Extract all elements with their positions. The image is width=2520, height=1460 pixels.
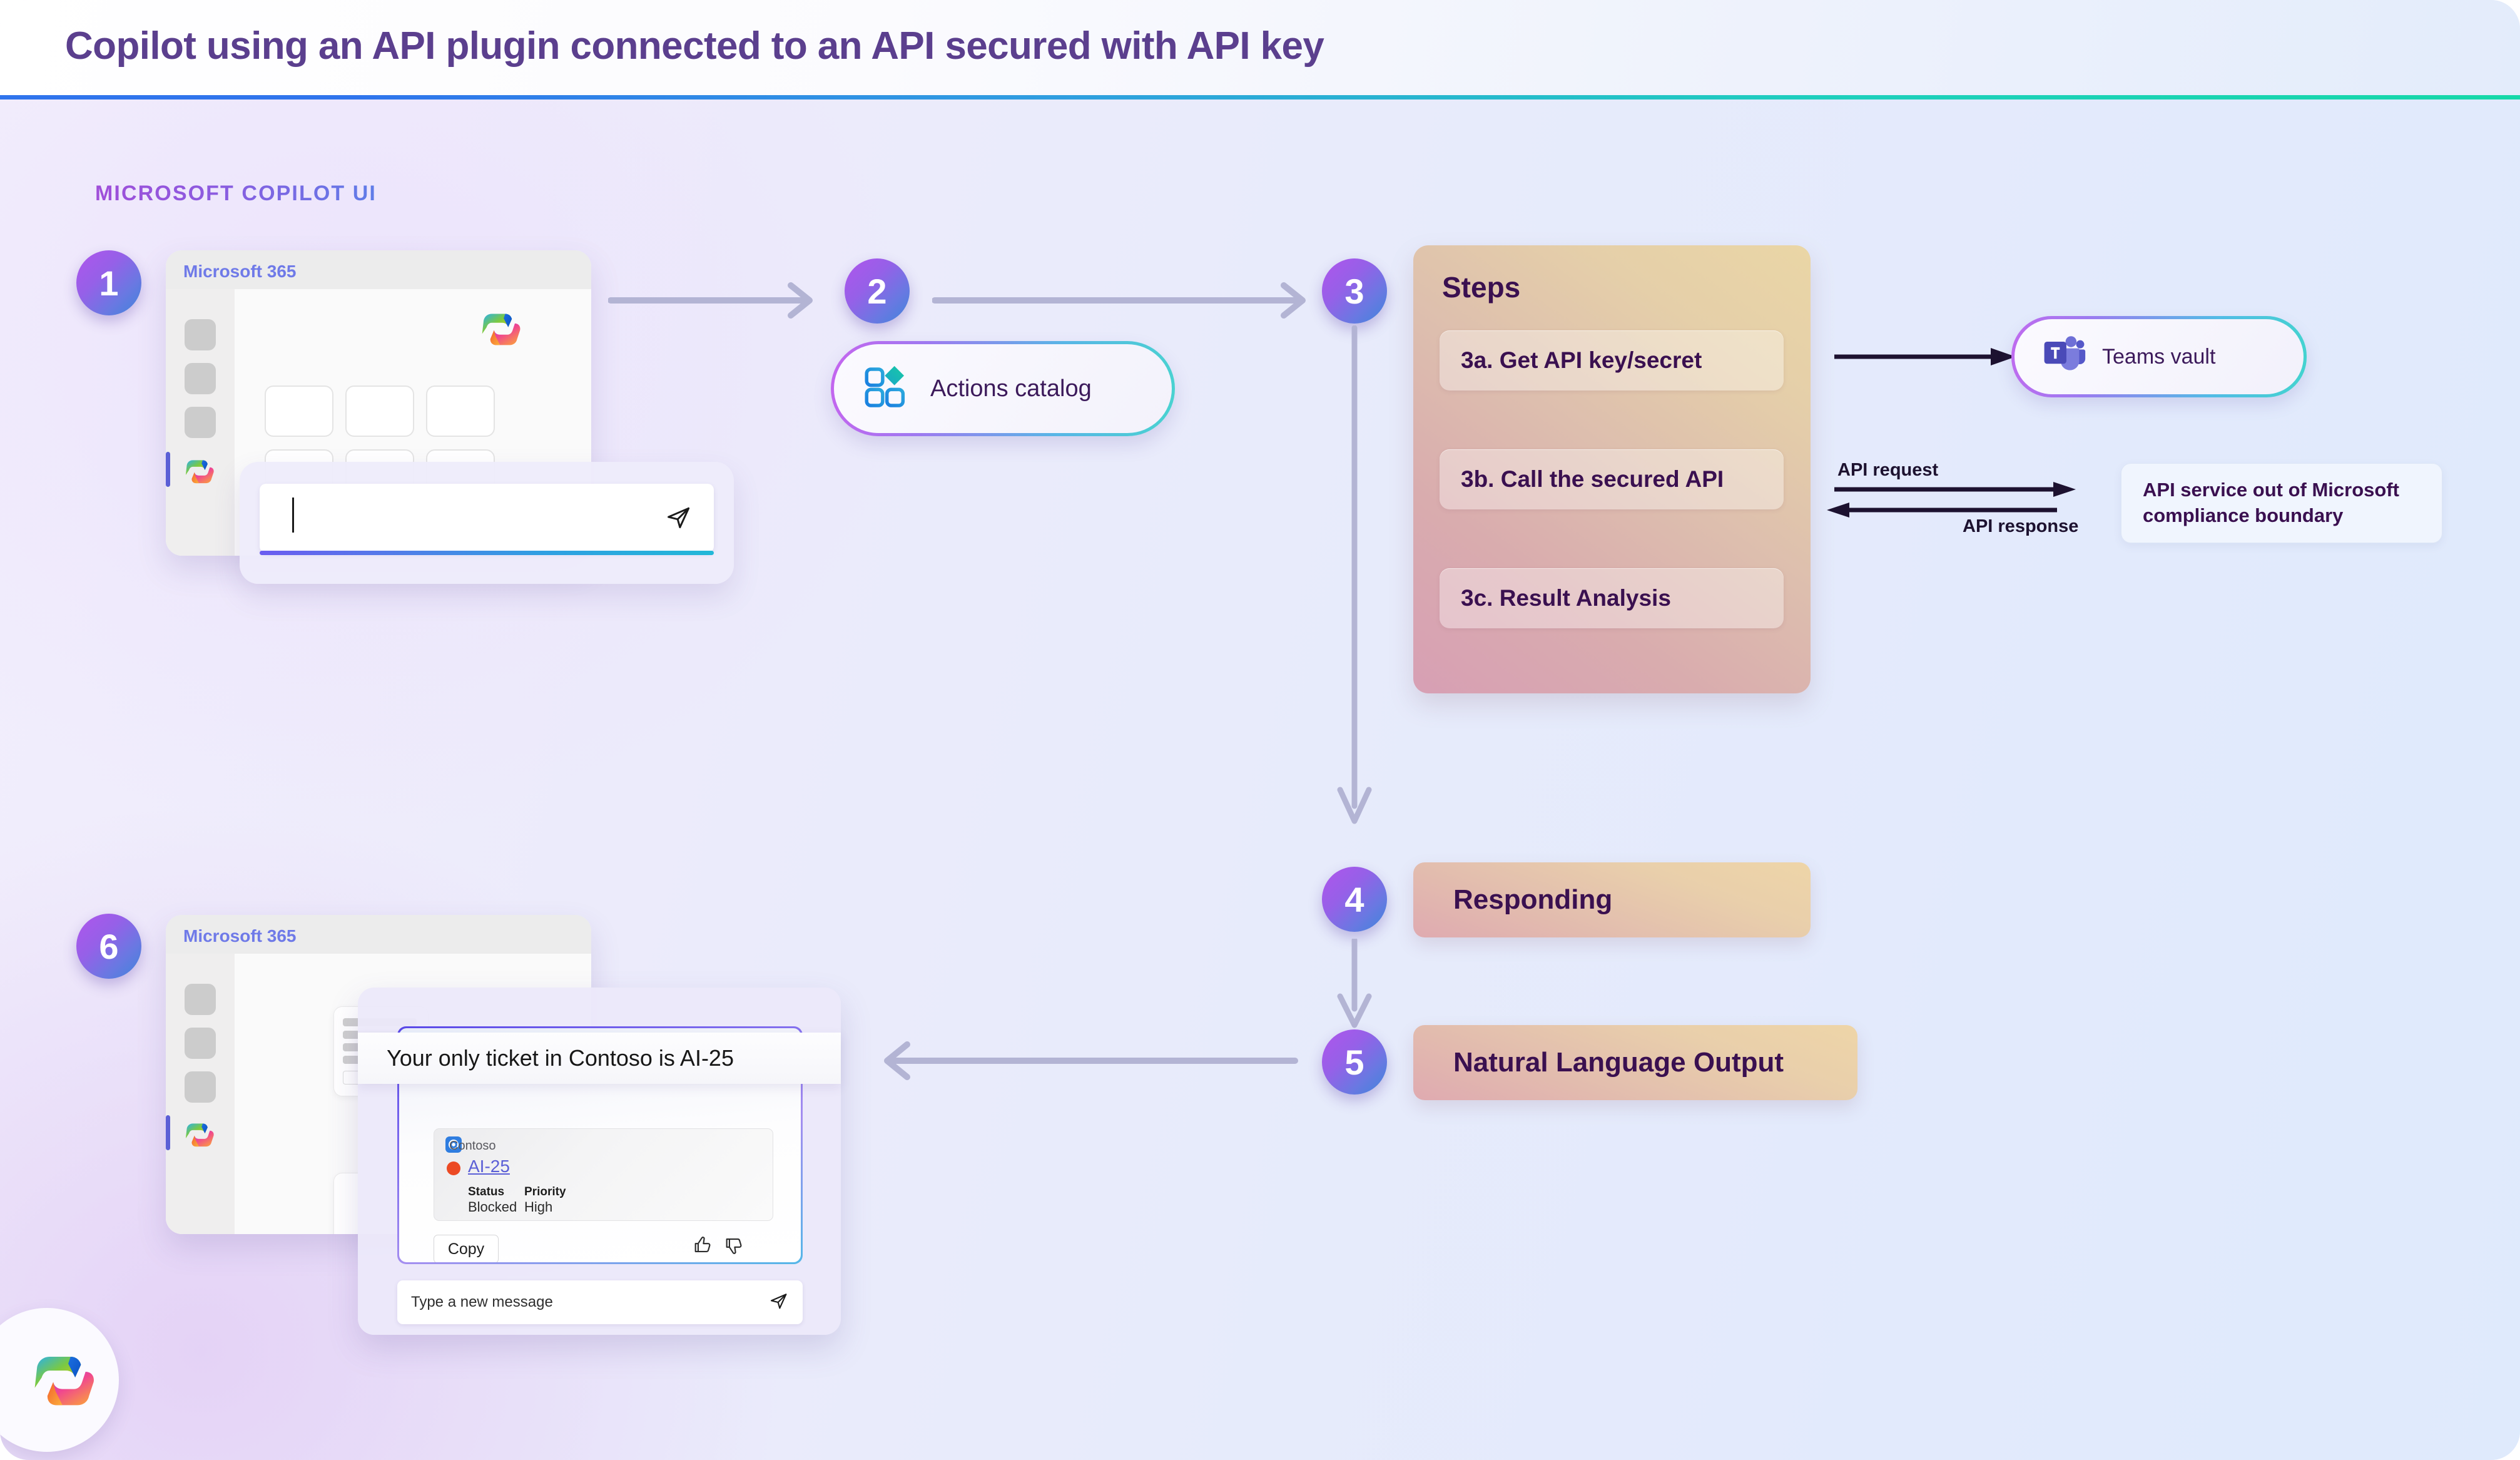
diagram-canvas: Copilot using an API plugin connected to… (0, 0, 2520, 1460)
window-title: Microsoft 365 (183, 262, 297, 282)
microsoft-teams-icon (2040, 334, 2087, 380)
thumbs-up-icon[interactable] (692, 1235, 713, 1259)
step-badge-5: 5 (1322, 1029, 1387, 1095)
copilot-logo-icon (475, 304, 523, 355)
api-request-label: API request (1837, 460, 1938, 481)
rail-item[interactable] (185, 1071, 216, 1103)
ticket-status-value: Blocked (468, 1199, 517, 1215)
arrow-step4-to-step5 (1333, 939, 1376, 1039)
window-titlebar: Microsoft 365 (166, 915, 591, 954)
responding-box: Responding (1413, 862, 1811, 937)
step-badge-4: 4 (1322, 867, 1387, 932)
ticket-status-dot (447, 1161, 460, 1175)
step-item-3a[interactable]: 3a. Get API key/secret (1440, 330, 1784, 391)
content-tile[interactable] (426, 385, 495, 437)
steps-panel-title: Steps (1442, 270, 1520, 304)
actions-catalog-label: Actions catalog (930, 375, 1092, 402)
arrow-step1-to-step2 (608, 275, 827, 325)
ticket-priority-header: Priority (524, 1185, 566, 1199)
copy-button[interactable]: Copy (434, 1235, 499, 1262)
step-badge-2: 2 (845, 258, 910, 324)
content-tile[interactable] (345, 385, 414, 437)
send-icon[interactable] (665, 504, 693, 534)
header-bar: Copilot using an API plugin connected to… (0, 0, 2520, 96)
arrow-step3-to-step4 (1333, 325, 1376, 845)
rail-item[interactable] (185, 363, 216, 394)
prompt-input[interactable] (260, 484, 714, 553)
api-response-label: API response (1963, 516, 2078, 537)
new-message-placeholder: Type a new message (411, 1294, 553, 1311)
app-rail[interactable] (166, 289, 235, 556)
header-divider (0, 95, 2520, 100)
actions-catalog-pill[interactable]: Actions catalog (831, 341, 1175, 436)
api-service-line1: API service out of Microsoft (2143, 477, 2399, 503)
teams-vault-label: Teams vault (2102, 345, 2215, 369)
rail-item[interactable] (185, 319, 216, 350)
window-titlebar: Microsoft 365 (166, 250, 591, 289)
rail-active-indicator (166, 1115, 170, 1150)
step-item-3c[interactable]: 3c. Result Analysis (1440, 568, 1784, 628)
thumbs-down-icon[interactable] (723, 1235, 744, 1259)
new-message-input[interactable]: Type a new message (397, 1280, 803, 1324)
natural-language-output-box: Natural Language Output (1413, 1025, 1857, 1100)
rail-item[interactable] (185, 407, 216, 438)
rail-item[interactable] (185, 1028, 216, 1059)
copilot-logo-icon (24, 1342, 98, 1419)
page-title: Copilot using an API plugin connected to… (65, 24, 1324, 68)
api-service-box: API service out of Microsoft compliance … (2121, 463, 2442, 543)
copilot-logo-icon[interactable] (181, 1116, 216, 1155)
steps-panel: Steps 3a. Get API key/secret 3b. Call th… (1413, 245, 1811, 693)
app-rail[interactable] (166, 954, 235, 1234)
window-title: Microsoft 365 (183, 926, 297, 946)
teams-vault-pill[interactable]: Teams vault (2011, 316, 2307, 397)
copilot-answer-text: Your only ticket in Contoso is AI-25 (358, 1033, 841, 1084)
step-item-3b[interactable]: 3b. Call the secured API (1440, 449, 1784, 509)
rail-active-indicator (166, 452, 170, 487)
api-service-line2: compliance boundary (2143, 503, 2399, 529)
arrow-step2-to-step3 (932, 275, 1320, 325)
ticket-priority-value: High (524, 1199, 552, 1215)
copilot-composer-card (240, 462, 734, 584)
send-icon[interactable] (769, 1291, 789, 1314)
step-badge-3: 3 (1322, 258, 1387, 324)
composer-accent-underline (260, 551, 714, 555)
plugin-grid-icon (860, 362, 912, 416)
ticket-status-header: Status (468, 1185, 504, 1199)
step-badge-1: 1 (76, 250, 141, 315)
arrow-api-request (1833, 481, 2083, 499)
section-label: MICROSOFT COPILOT UI (95, 181, 377, 206)
rail-item[interactable] (185, 984, 216, 1015)
ticket-id-link[interactable]: AI-25 (468, 1156, 510, 1177)
arrow-step5-to-step6 (863, 1036, 1314, 1086)
copilot-logo-icon[interactable] (181, 453, 216, 491)
text-caret (292, 498, 294, 533)
ticket-source-label: Contoso (449, 1139, 496, 1153)
arrow-to-teams-vault (1833, 341, 2021, 372)
step-badge-6: 6 (76, 914, 141, 979)
ticket-adaptive-card[interactable]: Contoso AI-25 Status Priority Blocked Hi… (434, 1128, 773, 1221)
content-tile[interactable] (265, 385, 333, 437)
